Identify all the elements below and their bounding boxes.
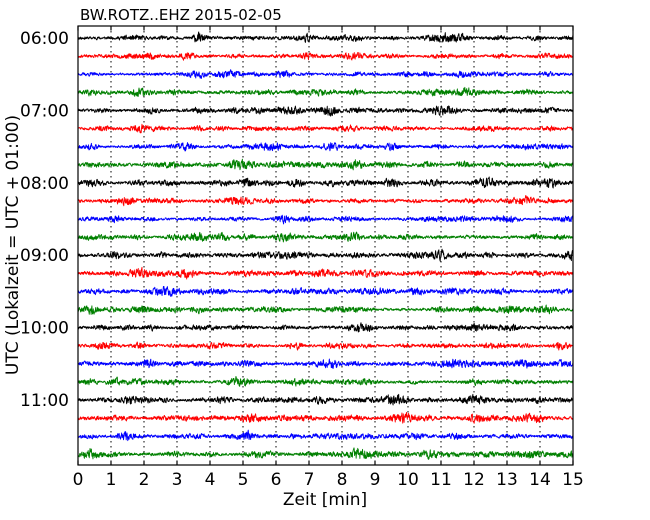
x-tick-label: 8 — [337, 470, 348, 490]
y-tick-label: 10:00 — [20, 319, 69, 339]
y-tick-label: 08:00 — [20, 174, 69, 194]
x-tick-label: 13 — [496, 470, 518, 490]
x-tick-label: 14 — [529, 470, 551, 490]
x-tick-label: 3 — [172, 470, 183, 490]
x-tick-label: 12 — [463, 470, 485, 490]
x-tick-label: 15 — [562, 470, 584, 490]
x-tick-label: 11 — [430, 470, 452, 490]
figure-background — [0, 0, 650, 520]
x-tick-label: 0 — [73, 470, 84, 490]
y-tick-label: 06:00 — [20, 29, 69, 49]
x-tick-label: 4 — [205, 470, 216, 490]
x-tick-label: 1 — [106, 470, 117, 490]
y-tick-label: 11:00 — [20, 391, 69, 411]
x-tick-label: 9 — [370, 470, 381, 490]
x-tick-label: 10 — [397, 470, 419, 490]
x-tick-label: 5 — [238, 470, 249, 490]
x-tick-label: 7 — [304, 470, 315, 490]
page-title: BW.ROTZ..EHZ 2015-02-05 — [80, 6, 282, 24]
x-tick-label: 6 — [271, 470, 282, 490]
x-axis-label: Zeit [min] — [283, 490, 367, 510]
x-tick-label: 2 — [139, 470, 150, 490]
y-axis-label: UTC (Lokalzeit = UTC + 01:00) — [3, 115, 23, 375]
y-tick-label: 07:00 — [20, 101, 69, 121]
seismograph-dayplot: BW.ROTZ..EHZ 2015-02-05 0123456789101112… — [0, 0, 650, 520]
y-tick-label: 09:00 — [20, 246, 69, 266]
